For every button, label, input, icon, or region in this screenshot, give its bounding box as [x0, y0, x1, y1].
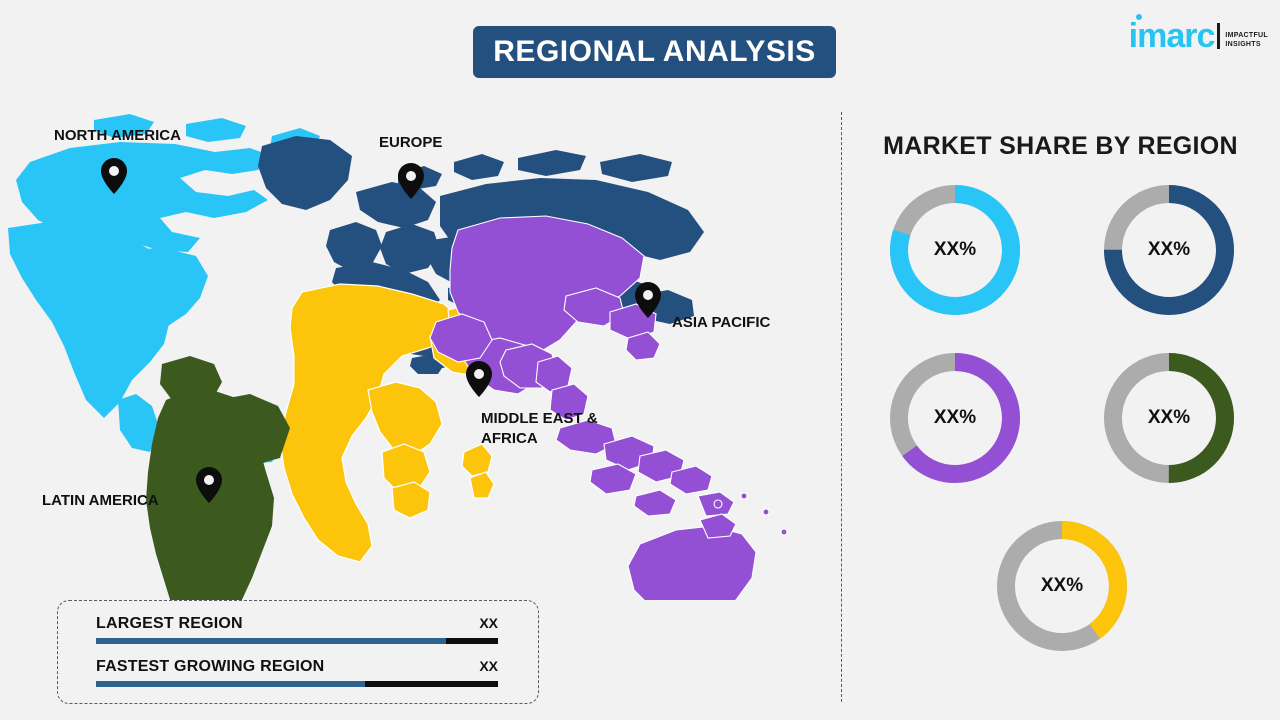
logo-tagline: IMPACTFUL INSIGHTS: [1225, 31, 1268, 49]
donut-chart-north-america[interactable]: XX%: [885, 180, 1025, 320]
map-pin-latin-america[interactable]: [196, 467, 222, 503]
logo-tagline-line1: IMPACTFUL: [1225, 31, 1268, 40]
donut-row-3: XX%: [862, 516, 1262, 656]
legend-row-fastest-growing-region: FASTEST GROWING REGION XX: [96, 658, 498, 687]
market-share-donut-grid: XX% XX% XX%: [862, 180, 1262, 684]
map-label-middle-east-africa-line2: AFRICA: [481, 429, 598, 449]
page-title-banner: REGIONAL ANALYSIS: [473, 26, 836, 78]
donut-row-2: XX% XX%: [862, 348, 1262, 488]
map-pin-europe[interactable]: [398, 163, 424, 199]
legend-row-largest-region: LARGEST REGION XX: [96, 615, 498, 644]
infographic-canvas: REGIONAL ANALYSIS imarc IMPACTFUL INSIGH…: [0, 0, 1280, 720]
donut-chart-europe[interactable]: XX%: [1099, 180, 1239, 320]
legend-label-largest-region: LARGEST REGION: [96, 615, 243, 633]
map-label-asia-pacific: ASIA PACIFIC: [672, 313, 770, 333]
map-label-middle-east-africa: MIDDLE EAST & AFRICA: [481, 409, 598, 449]
logo-tagline-line2: INSIGHTS: [1225, 40, 1268, 49]
donut-chart-asia-pacific[interactable]: XX%: [885, 348, 1025, 488]
logo-wordmark: imarc: [1129, 20, 1215, 52]
map-pin-asia-pacific[interactable]: [635, 282, 661, 318]
region-summary-box: LARGEST REGION XX FASTEST GROWING REGION…: [57, 600, 539, 704]
legend-value-largest-region: XX: [479, 615, 498, 631]
legend-progress-fill: [96, 681, 365, 687]
legend-progress-bar-fastest-growing-region: [96, 681, 498, 687]
map-label-middle-east-africa-line1: MIDDLE EAST &: [481, 409, 598, 429]
page-title: REGIONAL ANALYSIS: [493, 35, 815, 69]
panel-divider: [841, 112, 842, 702]
donut-chart-middle-east-africa[interactable]: XX%: [992, 516, 1132, 656]
map-pin-north-america[interactable]: [101, 158, 127, 194]
legend-label-fastest-growing-region: FASTEST GROWING REGION: [96, 658, 324, 676]
imarc-logo: imarc IMPACTFUL INSIGHTS: [1129, 12, 1268, 52]
logo-text: imarc: [1129, 17, 1215, 55]
legend-progress-fill: [96, 638, 446, 644]
legend-progress-bar-largest-region: [96, 638, 498, 644]
map-label-north-america: NORTH AMERICA: [54, 126, 181, 146]
donut-row-1: XX% XX%: [862, 180, 1262, 320]
map-region-asia-pacific[interactable]: [430, 216, 788, 600]
legend-row-header: FASTEST GROWING REGION XX: [96, 658, 498, 676]
logo-divider-bar: [1217, 23, 1220, 49]
map-label-europe: EUROPE: [379, 133, 442, 153]
logo-dot-icon: [1136, 14, 1142, 20]
map-pin-middle-east-africa[interactable]: [466, 361, 492, 397]
map-label-latin-america: LATIN AMERICA: [42, 491, 159, 511]
legend-value-fastest-growing-region: XX: [479, 658, 498, 674]
legend-row-header: LARGEST REGION XX: [96, 615, 498, 633]
market-share-title: MARKET SHARE BY REGION: [841, 132, 1280, 161]
donut-chart-latin-america[interactable]: XX%: [1099, 348, 1239, 488]
